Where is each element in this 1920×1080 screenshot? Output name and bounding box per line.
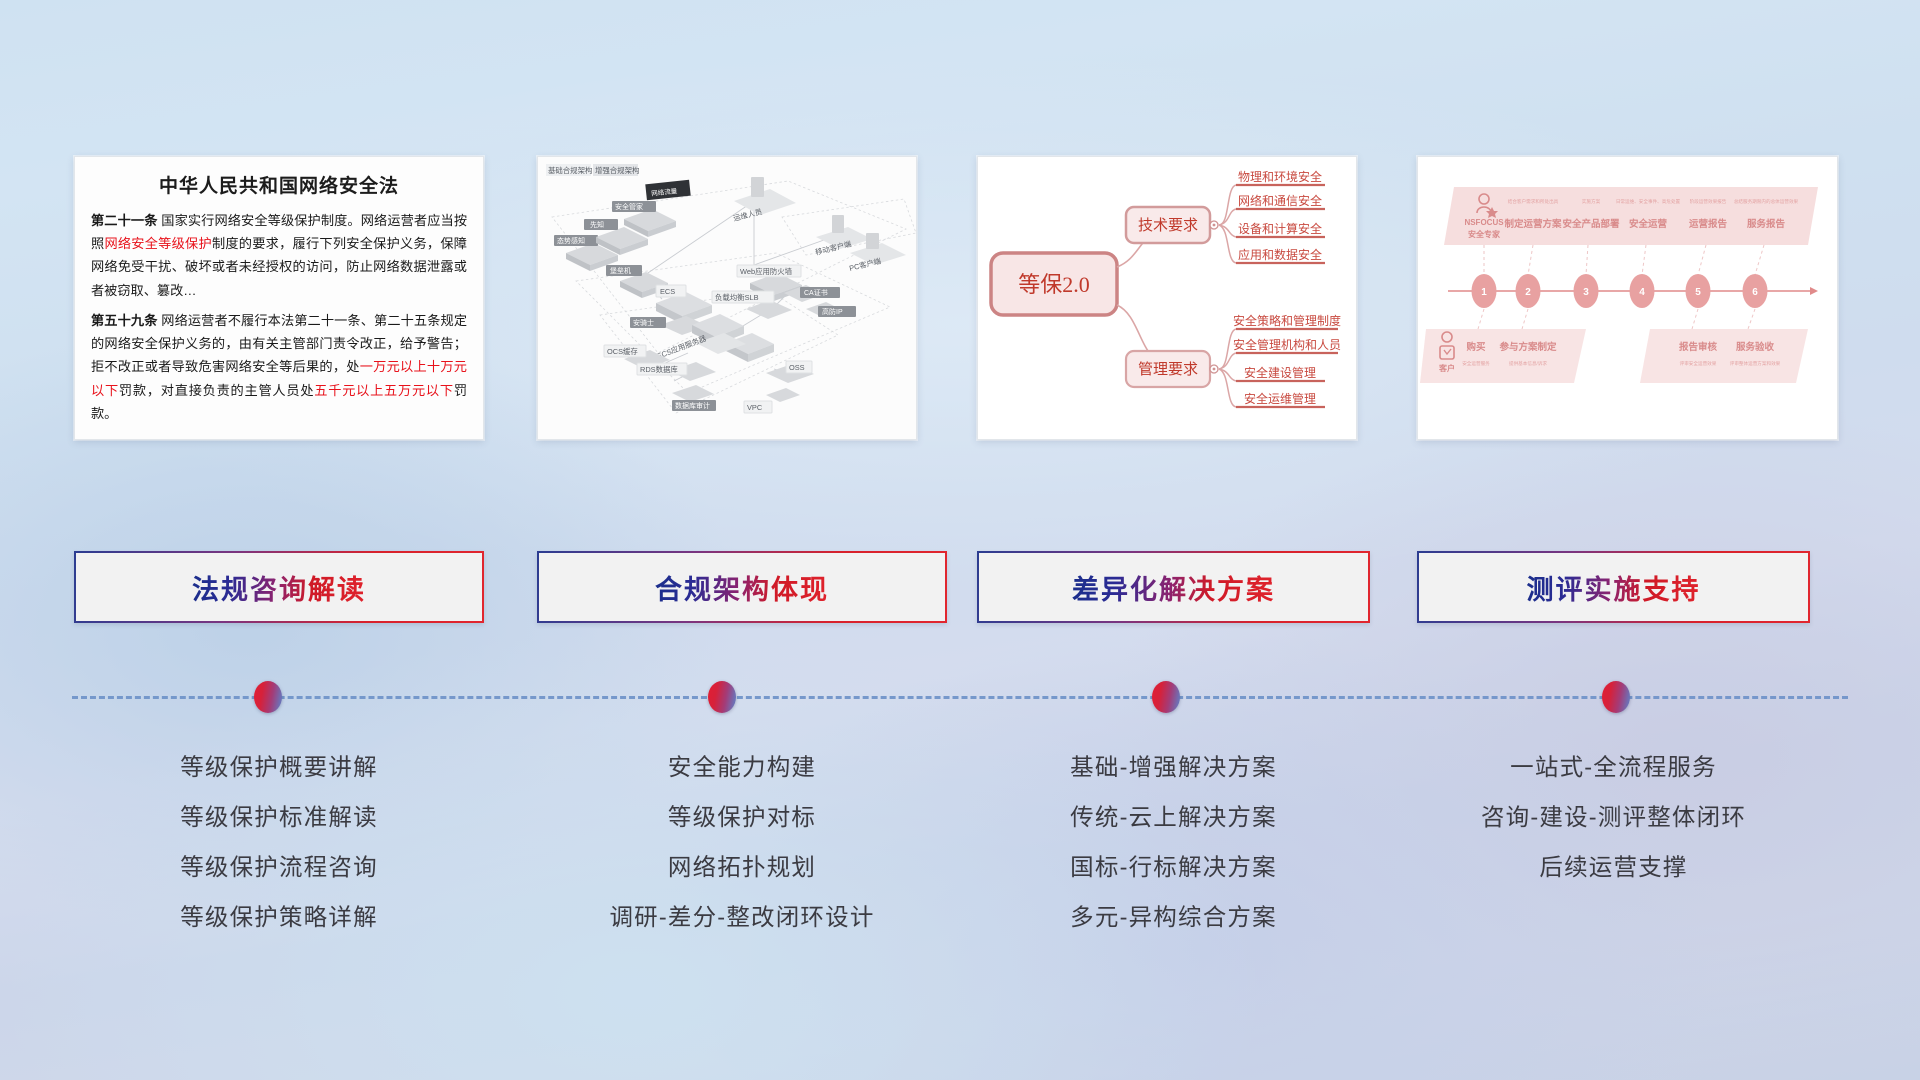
list-item: 传统-云上解决方案 bbox=[977, 792, 1370, 842]
list-item: 一站式-全流程服务 bbox=[1417, 742, 1810, 792]
arch-label-rds: RDS数据库 bbox=[640, 365, 678, 374]
arch-label-ocs-cache: OCS缓存 bbox=[607, 347, 638, 356]
card-law-text: 中华人民共和国网络安全法 第二十一条 国家实行网络安全等级保护制度。网络运营者应… bbox=[74, 156, 484, 440]
bottom-step-sub: 安全运营服务 bbox=[1462, 360, 1490, 367]
law-title: 中华人民共和国网络安全法 bbox=[91, 171, 467, 198]
title-box-3[interactable]: 差异化解决方案 bbox=[977, 551, 1370, 623]
mindmap-branch-management-label: 管理要求 bbox=[1138, 361, 1198, 378]
card-mindmap: 等保2.0 技术要求 bbox=[977, 156, 1357, 440]
mindmap-leaf-construction: 安全建设管理 bbox=[1244, 365, 1316, 380]
bottom-step-sub: 评审安全运营效果 bbox=[1680, 360, 1717, 367]
top-step-title: 安全产品部署 bbox=[1562, 218, 1620, 230]
arch-label-prophet: 先知 bbox=[590, 220, 604, 229]
arch-label-anti-ddos: 高防IP bbox=[822, 307, 843, 316]
law-run: 罚款，对直接负责的主管人员处 bbox=[119, 383, 314, 398]
timeline-node-4[interactable]: 4 bbox=[1630, 274, 1655, 308]
arch-tab-basic[interactable]: 基础合规架构 bbox=[546, 164, 592, 176]
expert-name: NSFOCUS bbox=[1464, 218, 1504, 227]
title-box-4[interactable]: 测评实施支持 bbox=[1417, 551, 1810, 623]
mindmap-leaf-device: 设备和计算安全 bbox=[1238, 221, 1322, 236]
column-list-2: 安全能力构建 等级保护对标 网络拓扑规划 调研-差分-整改闭环设计 bbox=[537, 742, 947, 942]
arch-label-agent-knight: 安骑士 bbox=[633, 318, 654, 327]
law-paragraph-59: 第五十九条 网络运营者不履行本法第二十一条、第二十五条规定的网络安全保护义务的，… bbox=[91, 309, 467, 425]
timeline-node-number: 5 bbox=[1695, 287, 1701, 298]
law-run-highlight: 网络安全等级保护 bbox=[104, 236, 212, 251]
top-step-title: 安全运营 bbox=[1629, 218, 1668, 230]
node-dot-4[interactable] bbox=[1602, 681, 1630, 713]
list-item: 等级保护概要讲解 bbox=[74, 742, 484, 792]
timeline-node-number: 2 bbox=[1525, 287, 1531, 298]
law-paragraph-21: 第二十一条 国家实行网络安全等级保护制度。网络运营者应当按照网络安全等级保护制度… bbox=[91, 209, 467, 302]
timeline-node-3[interactable]: 3 bbox=[1574, 274, 1599, 308]
top-step-sub: 总结服务期限内的总体运营效果 bbox=[1734, 198, 1799, 205]
title-label-1: 法规咨询解读 bbox=[192, 568, 366, 607]
card-service-timeline: NSFOCUS 安全专家 客户 结合客户需求和所处出具 制定运营方案 实施方案 … bbox=[1417, 156, 1838, 440]
expert-role: 安全专家 bbox=[1468, 229, 1501, 239]
mindmap-leaf-operation: 安全运维管理 bbox=[1244, 391, 1316, 406]
timeline-node-number: 6 bbox=[1752, 287, 1758, 298]
arch-label-oss: OSS bbox=[789, 363, 805, 372]
mindmap-leaf-application: 应用和数据安全 bbox=[1238, 247, 1322, 262]
column-list-3: 基础-增强解决方案 传统-云上解决方案 国标-行标解决方案 多元-异构综合方案 bbox=[977, 742, 1370, 942]
law-article-59: 第五十九条 bbox=[91, 313, 158, 328]
arch-label-ecs: ECS bbox=[660, 287, 675, 296]
arch-tab-basic-label: 基础合规架构 bbox=[548, 166, 592, 175]
top-step-sub: 阶段运营效果报告 bbox=[1690, 198, 1727, 205]
timeline-node-1[interactable]: 1 bbox=[1472, 274, 1497, 308]
bottom-step-title: 报告审核 bbox=[1679, 341, 1718, 353]
node-dot-1[interactable] bbox=[254, 681, 282, 713]
bottom-step-sub: 提供基本信息/诉求 bbox=[1509, 360, 1547, 367]
title-label-2: 合规架构体现 bbox=[655, 568, 829, 607]
arch-label-situational-awareness: 态势感知 bbox=[557, 236, 585, 245]
timeline-node-6[interactable]: 6 bbox=[1743, 274, 1768, 308]
arch-tab-enhanced[interactable]: 增强合规架构 bbox=[593, 164, 639, 176]
law-run-highlight: 五千元以上五万元以下 bbox=[314, 383, 454, 398]
timeline-node-number: 4 bbox=[1639, 287, 1645, 298]
bottom-step-sub: 评审整体运营方案和效果 bbox=[1730, 360, 1781, 367]
mindmap-leaf-policy: 安全策略和管理制度 bbox=[1233, 313, 1341, 328]
top-step-title: 制定运营方案 bbox=[1504, 218, 1562, 230]
column-list-1: 等级保护概要讲解 等级保护标准解读 等级保护流程咨询 等级保护策略详解 bbox=[74, 742, 484, 942]
top-step-sub: 结合客户需求和所处出具 bbox=[1508, 198, 1559, 205]
mindmap-branch-management[interactable]: 管理要求 bbox=[1126, 351, 1218, 387]
mindmap-leaf-network: 网络和通信安全 bbox=[1238, 193, 1322, 208]
mindmap-leaf-physical: 物理和环境安全 bbox=[1238, 169, 1322, 184]
arch-label-waf: Web应用防火墙 bbox=[740, 267, 793, 276]
bottom-step-title: 服务验收 bbox=[1736, 341, 1775, 353]
title-label-3: 差异化解决方案 bbox=[1072, 568, 1275, 607]
arch-label-vpc: VPC bbox=[747, 403, 763, 412]
node-dot-3[interactable] bbox=[1152, 681, 1180, 713]
top-step-title: 服务报告 bbox=[1747, 218, 1786, 230]
list-item: 等级保护流程咨询 bbox=[74, 842, 484, 892]
timeline-node-number: 1 bbox=[1481, 287, 1487, 298]
column-list-4: 一站式-全流程服务 咨询-建设-测评整体闭环 后续运营支撑 bbox=[1417, 742, 1810, 892]
node-dot-2[interactable] bbox=[708, 681, 736, 713]
list-item: 网络拓扑规划 bbox=[537, 842, 947, 892]
top-step-title: 运营报告 bbox=[1689, 218, 1728, 230]
card-architecture-diagram: 基础合规架构 增强合规架构 bbox=[537, 156, 917, 440]
list-item: 后续运营支撑 bbox=[1417, 842, 1810, 892]
list-item: 等级保护策略详解 bbox=[74, 892, 484, 942]
mindmap-leaf-org: 安全管理机构和人员 bbox=[1233, 337, 1341, 352]
arch-label-slb: 负载均衡SLB bbox=[715, 293, 759, 302]
slide-canvas: 中华人民共和国网络安全法 第二十一条 国家实行网络安全等级保护制度。网络运营者应… bbox=[0, 0, 1920, 1080]
list-item: 咨询-建设-测评整体闭环 bbox=[1417, 792, 1810, 842]
arch-label-db-audit: 数据库审计 bbox=[675, 401, 710, 410]
timeline-dashed-connector bbox=[72, 696, 1848, 699]
arch-label-security-butler: 安全管家 bbox=[615, 202, 643, 211]
arch-tab-enhanced-label: 增强合规架构 bbox=[595, 166, 639, 175]
timeline-node-5[interactable]: 5 bbox=[1686, 274, 1711, 308]
mindmap-root-node[interactable]: 等保2.0 bbox=[991, 253, 1117, 315]
arch-label-ca-cert: CA证书 bbox=[804, 288, 828, 297]
timeline-node-number: 3 bbox=[1583, 287, 1589, 298]
arch-label-bastion: 堡垒机 bbox=[610, 266, 631, 275]
bottom-step-title: 参与方案制定 bbox=[1498, 341, 1557, 353]
mindmap-svg: 等保2.0 技术要求 bbox=[978, 157, 1357, 440]
list-item: 等级保护标准解读 bbox=[74, 792, 484, 842]
customer-role: 客户 bbox=[1438, 363, 1455, 373]
top-step-sub: 实施方案 bbox=[1582, 198, 1601, 205]
title-label-4: 测评实施支持 bbox=[1527, 568, 1701, 607]
list-item: 调研-差分-整改闭环设计 bbox=[537, 892, 947, 942]
law-article-21: 第二十一条 bbox=[91, 213, 158, 228]
title-box-1[interactable]: 法规咨询解读 bbox=[74, 551, 484, 623]
list-item: 等级保护对标 bbox=[537, 792, 947, 842]
list-item: 基础-增强解决方案 bbox=[977, 742, 1370, 792]
mindmap-branch-technical[interactable]: 技术要求 bbox=[1126, 207, 1218, 243]
timeline-svg: NSFOCUS 安全专家 客户 结合客户需求和所处出具 制定运营方案 实施方案 … bbox=[1418, 157, 1838, 440]
timeline-node-2[interactable]: 2 bbox=[1516, 274, 1541, 308]
list-item: 国标-行标解决方案 bbox=[977, 842, 1370, 892]
list-item: 多元-异构综合方案 bbox=[977, 892, 1370, 942]
mindmap-root-label: 等保2.0 bbox=[1018, 272, 1090, 297]
top-step-sub: 日常运维、安全事件、高危处置 bbox=[1616, 198, 1681, 205]
bottom-step-title: 购买 bbox=[1466, 341, 1486, 353]
architecture-svg: 基础合规架构 增强合规架构 bbox=[538, 157, 917, 440]
mindmap-branch-technical-label: 技术要求 bbox=[1138, 217, 1198, 234]
list-item: 安全能力构建 bbox=[537, 742, 947, 792]
title-box-2[interactable]: 合规架构体现 bbox=[537, 551, 947, 623]
